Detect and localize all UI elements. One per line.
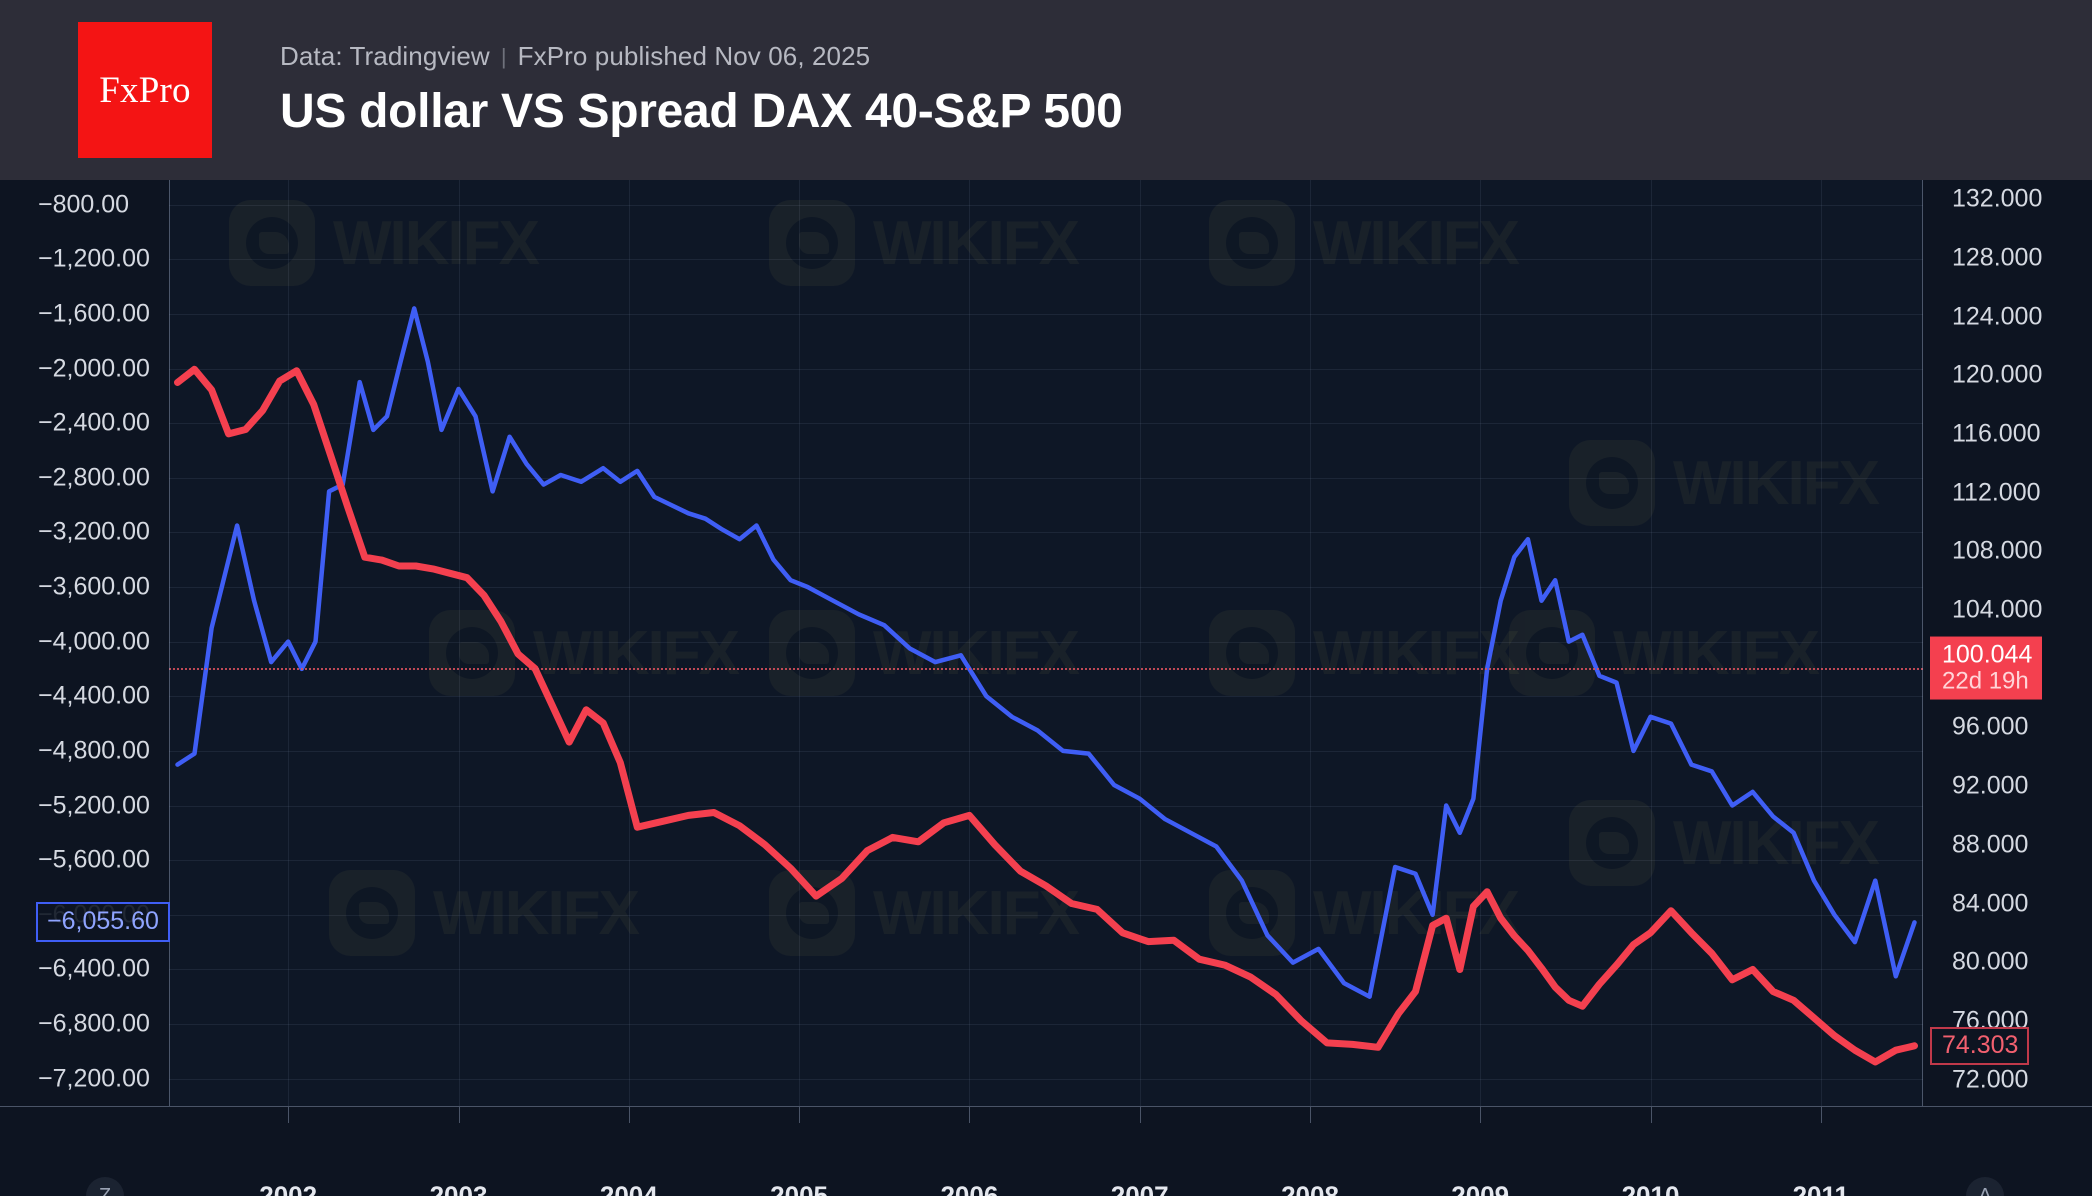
series-line-spread: [178, 308, 1915, 996]
time-tick-mark: [1140, 1107, 1141, 1123]
left-axis-tick-label: −6,800.00: [38, 1010, 150, 1039]
left-axis-tick-label: −5,200.00: [38, 791, 150, 820]
time-tick-mark: [1310, 1107, 1311, 1123]
left-axis-tick-label: −4,400.00: [38, 682, 150, 711]
left-axis-tick-label: −4,000.00: [38, 627, 150, 656]
right-axis-tick-label: 72.000: [1952, 1065, 2028, 1094]
bottom-axis-border: [0, 1106, 2092, 1107]
left-axis-tick-label: −3,200.00: [38, 518, 150, 547]
right-price-tag-countdown: 22d 19h: [1942, 668, 2032, 693]
left-price-tag[interactable]: −6,055.60: [36, 902, 170, 942]
right-price-tag[interactable]: 100.04422d 19h: [1930, 637, 2042, 700]
time-axis-tick-label: 2010: [1622, 1181, 1680, 1196]
right-axis-tick-label: 92.000: [1952, 772, 2028, 801]
page-header: FxPro Data: Tradingview | FxPro publishe…: [0, 0, 2092, 180]
left-axis-tick-label: −7,200.00: [38, 1064, 150, 1093]
chart-container[interactable]: WIKIFXWIKIFXWIKIFXWIKIFXWIKIFXWIKIFXWIKI…: [0, 180, 2092, 1196]
left-axis-tick-label: −2,800.00: [38, 463, 150, 492]
time-tick-mark: [1651, 1107, 1652, 1123]
right-axis-tick-label: 116.000: [1952, 419, 2041, 448]
page-title: US dollar VS Spread DAX 40-S&P 500: [280, 84, 1123, 139]
time-axis-tick-label: 2005: [770, 1181, 828, 1196]
timescale-right-badge[interactable]: A: [1966, 1177, 2004, 1196]
left-axis-tick-label: −6,400.00: [38, 955, 150, 984]
right-axis-tick-label: 132.000: [1952, 185, 2042, 214]
left-axis-tick-label: −2,400.00: [38, 409, 150, 438]
time-axis-tick-label: 2006: [940, 1181, 998, 1196]
time-tick-mark: [1821, 1107, 1822, 1123]
time-axis-tick-label: 2002: [259, 1181, 317, 1196]
right-price-tag-value: 100.044: [1942, 642, 2032, 669]
time-axis-tick-label: 2008: [1281, 1181, 1339, 1196]
right-axis-border: [1922, 180, 1923, 1106]
time-axis-tick-label: 2009: [1451, 1181, 1509, 1196]
time-axis-tick-label: 2003: [430, 1181, 488, 1196]
header-text-block: Data: Tradingview | FxPro published Nov …: [280, 41, 1123, 139]
right-axis-tick-label: 80.000: [1952, 948, 2028, 977]
data-source-label: Data: Tradingview: [280, 41, 490, 72]
time-tick-mark: [288, 1107, 289, 1123]
time-tick-mark: [629, 1107, 630, 1123]
header-subtitle: Data: Tradingview | FxPro published Nov …: [280, 41, 1123, 72]
left-axis-border: [169, 180, 170, 1106]
right-axis-tick-label: 108.000: [1952, 537, 2042, 566]
plot-area[interactable]: WIKIFXWIKIFXWIKIFXWIKIFXWIKIFXWIKIFXWIKI…: [169, 180, 1923, 1106]
right-axis-tick-label: 96.000: [1952, 713, 2028, 742]
time-axis-tick-label: 2011: [1793, 1181, 1849, 1196]
right-axis-tick-label: 84.000: [1952, 889, 2028, 918]
fxpro-logo-text: FxPro: [99, 69, 190, 112]
time-tick-mark: [799, 1107, 800, 1123]
right-axis-tick-label: 104.000: [1952, 596, 2042, 625]
right-axis-tick-label: 124.000: [1952, 302, 2042, 331]
left-axis-tick-label: −1,200.00: [38, 245, 150, 274]
left-axis-tick-label: −2,000.00: [38, 354, 150, 383]
time-tick-mark: [969, 1107, 970, 1123]
right-last-value-tag[interactable]: 74.303: [1930, 1027, 2029, 1065]
timescale-left-badge[interactable]: Z: [86, 1177, 124, 1196]
price-level-line: [169, 668, 1923, 670]
publisher-label: FxPro published Nov 06, 2025: [518, 41, 871, 72]
time-tick-mark: [459, 1107, 460, 1123]
left-axis-tick-label: −800.00: [38, 190, 129, 219]
time-axis-tick-label: 2004: [600, 1181, 658, 1196]
series-layer: [169, 180, 1923, 1106]
right-axis-tick-label: 120.000: [1952, 361, 2042, 390]
right-axis-tick-label: 88.000: [1952, 830, 2028, 859]
left-axis-tick-label: −4,800.00: [38, 736, 150, 765]
left-axis-tick-label: −3,600.00: [38, 573, 150, 602]
time-axis-tick-label: 2007: [1111, 1181, 1169, 1196]
right-axis-tick-label: 112.000: [1952, 478, 2041, 507]
time-tick-mark: [1480, 1107, 1481, 1123]
left-axis-tick-label: −5,600.00: [38, 846, 150, 875]
left-axis-tick-label: −1,600.00: [38, 299, 150, 328]
header-separator: |: [501, 44, 507, 70]
right-axis-tick-label: 128.000: [1952, 243, 2042, 272]
fxpro-logo: FxPro: [78, 22, 212, 158]
